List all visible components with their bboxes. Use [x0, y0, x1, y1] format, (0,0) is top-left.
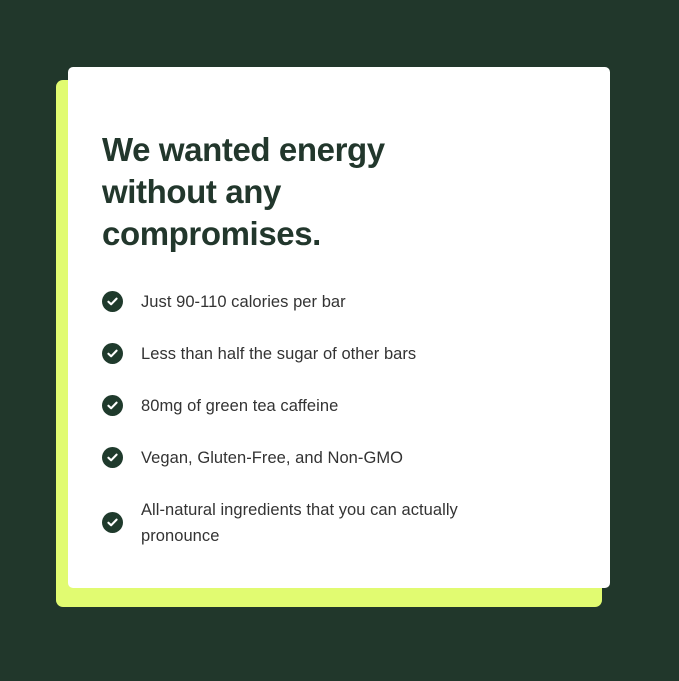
list-item: Just 90-110 calories per bar — [102, 289, 532, 315]
check-circle-icon — [102, 512, 123, 533]
check-circle-icon — [102, 447, 123, 468]
page-title: We wanted energy without any compromises… — [102, 129, 502, 255]
list-item: Vegan, Gluten-Free, and Non-GMO — [102, 445, 532, 471]
promo-stage: We wanted energy without any compromises… — [0, 0, 679, 681]
benefits-card: We wanted energy without any compromises… — [68, 67, 610, 588]
benefit-label: All-natural ingredients that you can act… — [141, 497, 532, 549]
benefit-label: Less than half the sugar of other bars — [141, 341, 416, 367]
benefit-label: Vegan, Gluten-Free, and Non-GMO — [141, 445, 403, 471]
list-item: 80mg of green tea caffeine — [102, 393, 532, 419]
list-item: All-natural ingredients that you can act… — [102, 497, 532, 549]
benefit-label: Just 90-110 calories per bar — [141, 289, 346, 315]
check-circle-icon — [102, 343, 123, 364]
list-item: Less than half the sugar of other bars — [102, 341, 532, 367]
benefits-list: Just 90-110 calories per bar Less than h… — [102, 289, 576, 549]
check-circle-icon — [102, 291, 123, 312]
check-circle-icon — [102, 395, 123, 416]
benefit-label: 80mg of green tea caffeine — [141, 393, 338, 419]
